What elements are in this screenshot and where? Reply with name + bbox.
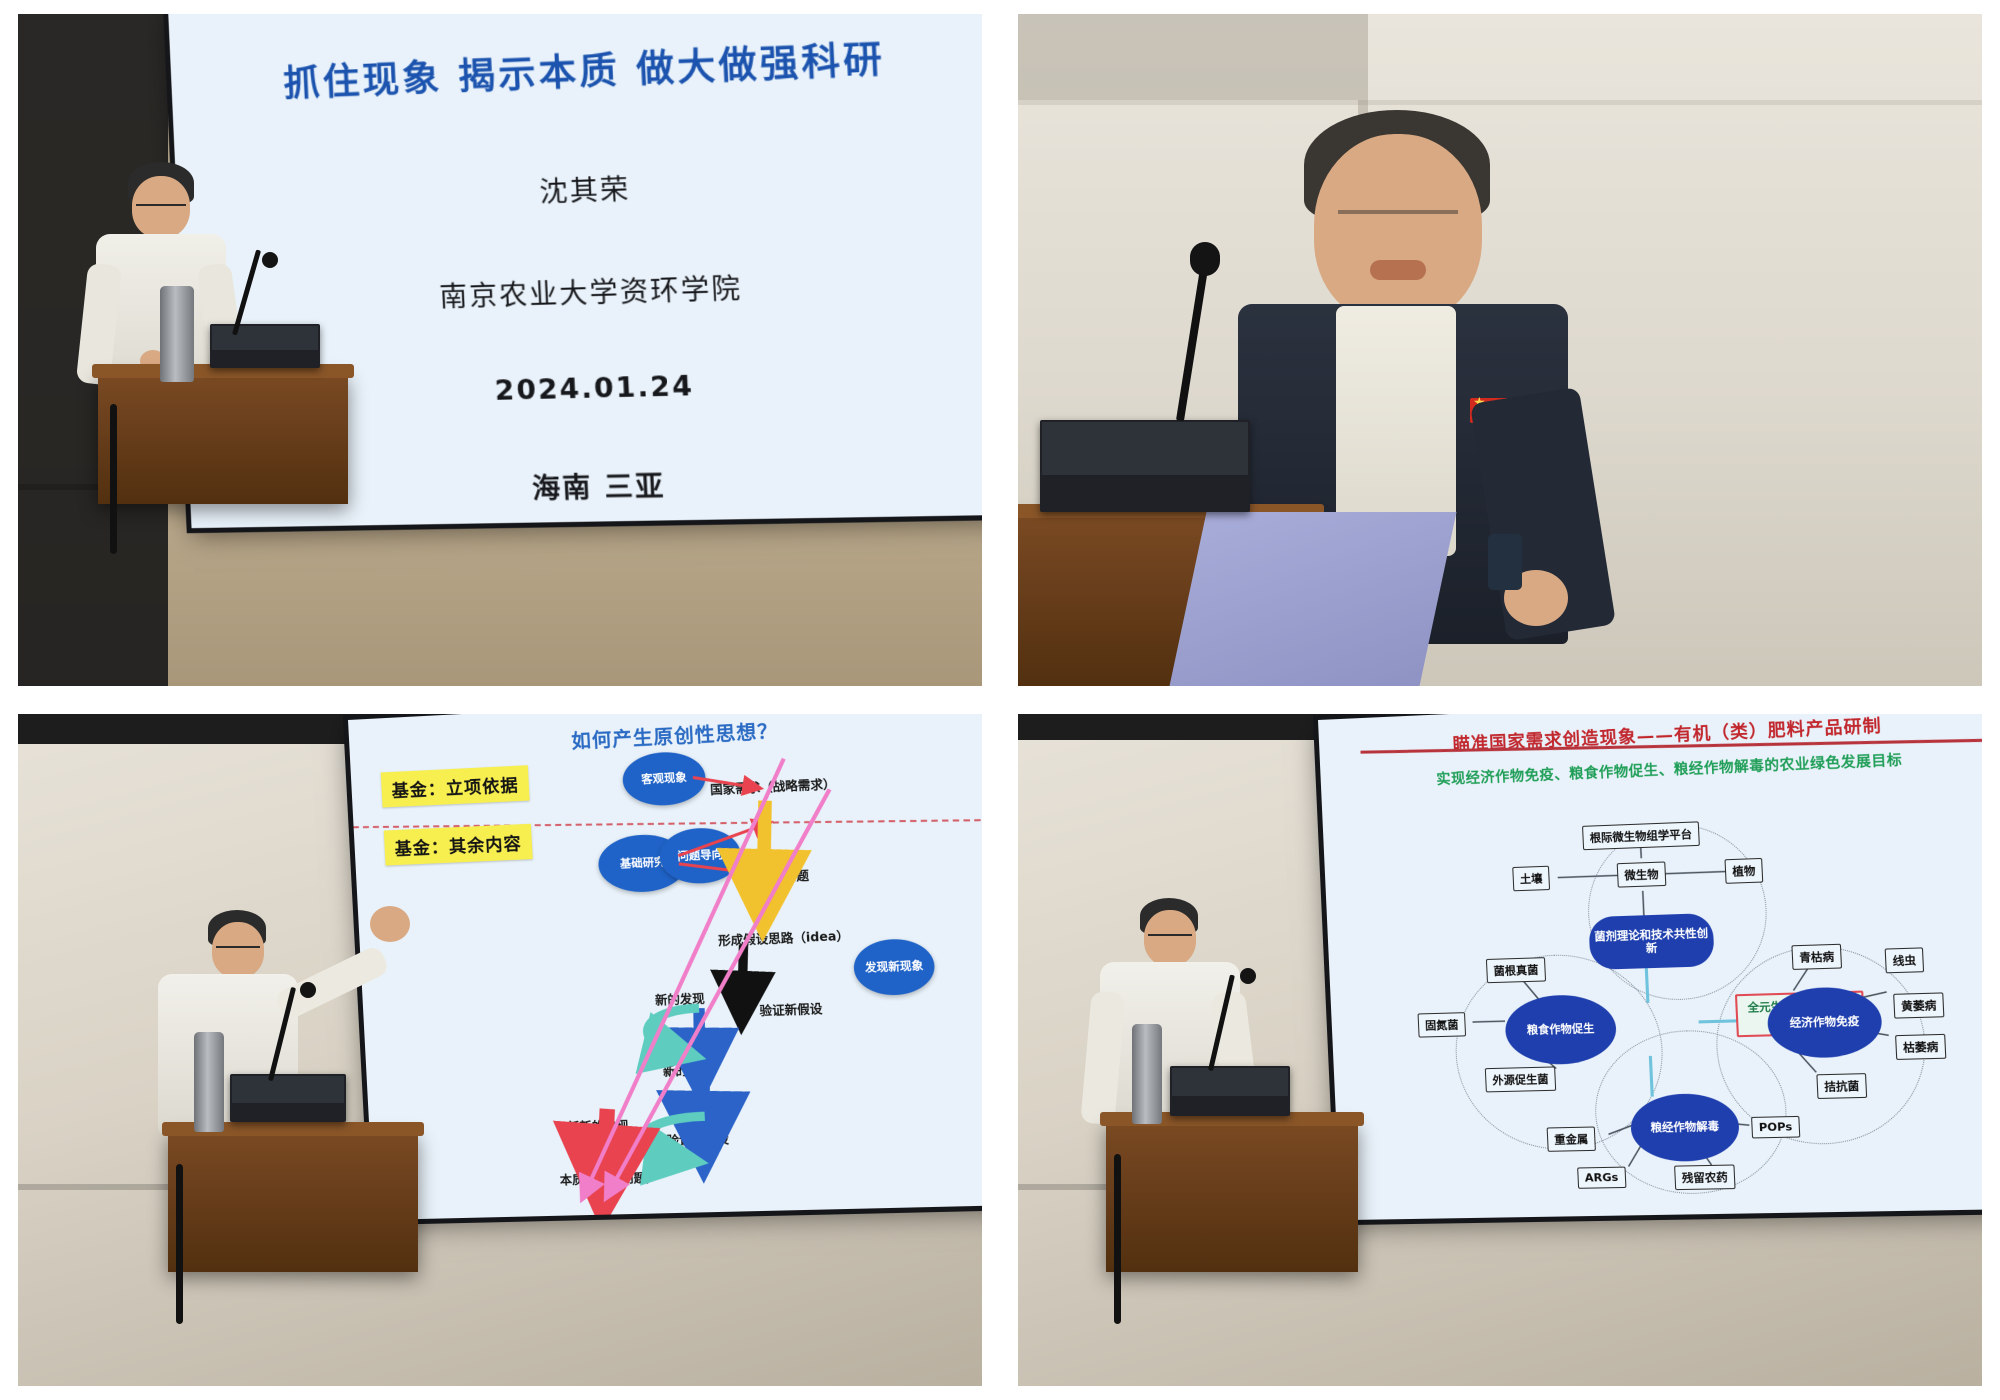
node-residual-pesticide: 残留农药 <box>1674 1164 1735 1190</box>
node-nematode: 线虫 <box>1885 947 1924 973</box>
thermos-bottle-3 <box>194 1032 224 1132</box>
glasses-4 <box>1148 934 1192 943</box>
photo-2 <box>1018 14 1982 686</box>
node-bacterial-wilt: 青枯病 <box>1791 944 1842 970</box>
clicker <box>1488 534 1522 590</box>
photo-collage: 抓住现象 揭示本质 做大做强科研 沈其荣 南京农业大学资环学院 2024.01.… <box>0 0 2000 1400</box>
node-microbiome-platform: 根际微生物组学平台 <box>1582 821 1700 850</box>
node-nitrogen-fixing: 固氮菌 <box>1418 1012 1467 1037</box>
slide-author: 沈其荣 <box>176 153 982 222</box>
node-heavy-metal: 重金属 <box>1547 1126 1596 1151</box>
panel-top-left: 抓住现象 揭示本质 做大做强科研 沈其荣 南京农业大学资环学院 2024.01.… <box>0 0 1000 700</box>
node-theory-tech: 菌剂理论和技术共性创新 <box>1588 913 1715 970</box>
thermos-bottle-4 <box>1132 1024 1162 1124</box>
node-plant: 植物 <box>1724 858 1763 884</box>
slide-3: 如何产生原创性思想？ 基金：立项依据 基金：其余内容 客观现象 基础研究 问题导… <box>348 714 982 1220</box>
head-2 <box>1314 134 1482 324</box>
panel-bottom-right: 瞄准国家需求创造现象——有机（类）肥料产品研制 实现经济作物免疫、粮食作物促生、… <box>1000 700 2000 1400</box>
photo-1: 抓住现象 揭示本质 做大做强科研 沈其荣 南京农业大学资环学院 2024.01.… <box>18 14 982 686</box>
node-fusarium: 枯萎病 <box>1895 1034 1946 1060</box>
laptop-2 <box>1040 420 1250 512</box>
projection-screen-4: 瞄准国家需求创造现象——有机（类）肥料产品研制 实现经济作物免疫、粮食作物促生、… <box>1318 714 1982 1220</box>
projection-screen-3: 如何产生原创性思想？ 基金：立项依据 基金：其余内容 客观现象 基础研究 问题导… <box>348 714 982 1220</box>
node-exogenous-pgpr: 外源促生菌 <box>1485 1066 1556 1092</box>
laptop-screen-3 <box>232 1076 344 1103</box>
podium-4 <box>1106 1122 1358 1272</box>
node-antagonist: 拮抗菌 <box>1816 1073 1867 1099</box>
podium-3 <box>168 1132 418 1272</box>
microphone-head-3 <box>300 982 316 998</box>
thermos-bottle <box>160 286 194 382</box>
microphone-head-4 <box>1240 968 1256 984</box>
cable-3 <box>176 1164 183 1324</box>
node-args: ARGs <box>1577 1167 1626 1189</box>
mouth <box>1370 260 1426 280</box>
wall-line <box>1018 100 1982 105</box>
glasses-3 <box>216 946 260 955</box>
panel-bottom-left: 如何产生原创性思想？ 基金：立项依据 基金：其余内容 客观现象 基础研究 问题导… <box>0 700 1000 1400</box>
laptop-1 <box>210 324 320 368</box>
cable <box>110 404 117 554</box>
photo-4: 瞄准国家需求创造现象——有机（类）肥料产品研制 实现经济作物免疫、粮食作物促生、… <box>1018 714 1982 1386</box>
laptop-4 <box>1170 1066 1290 1116</box>
microphone-head-2 <box>1190 242 1220 276</box>
slide-4: 瞄准国家需求创造现象——有机（类）肥料产品研制 实现经济作物免疫、粮食作物促生、… <box>1318 714 1982 1220</box>
laptop-3 <box>230 1074 346 1122</box>
laptop-screen-4 <box>1172 1068 1288 1096</box>
photo-3: 如何产生原创性思想？ 基金：立项依据 基金：其余内容 客观现象 基础研究 问题导… <box>18 714 982 1386</box>
node-pops: POPs <box>1751 1116 1800 1139</box>
podium-1 <box>98 374 348 504</box>
wall-panel-a <box>1018 14 1358 100</box>
cable-4 <box>1114 1154 1121 1324</box>
panel-top-right <box>1000 0 2000 700</box>
glasses <box>136 204 186 213</box>
microphone-head <box>262 252 278 268</box>
glasses-2 <box>1338 210 1458 224</box>
laptop-screen-2 <box>1042 422 1248 475</box>
node-verticillium: 黄萎病 <box>1893 992 1944 1018</box>
node-soil: 土壤 <box>1512 866 1550 892</box>
lectern-panel <box>1170 512 1457 686</box>
hand-raised <box>370 906 410 942</box>
node-microbe: 微生物 <box>1617 861 1667 887</box>
slide3-arrows <box>348 714 982 1220</box>
slide-organization: 南京农业大学资环学院 <box>180 258 982 322</box>
laptop-screen <box>212 326 318 350</box>
node-mycorrhizal-fungi: 菌根真菌 <box>1486 957 1546 983</box>
slide-title: 抓住现象 揭示本质 做大做强科研 <box>170 24 982 112</box>
